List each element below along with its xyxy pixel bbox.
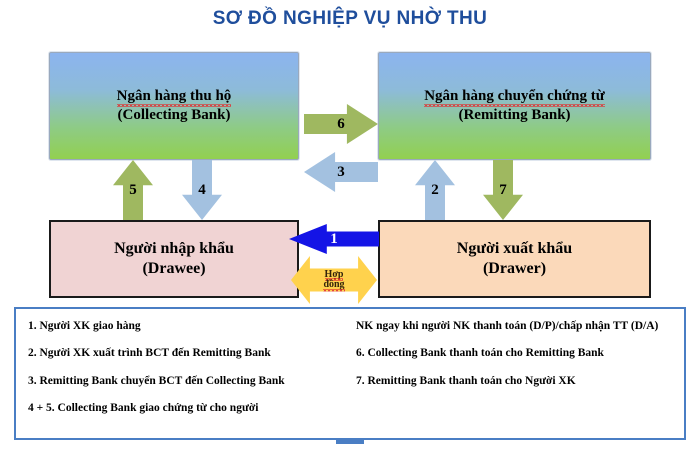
contract-label-line2: đồng: [323, 280, 344, 291]
legend-item: NK ngay khi người NK thanh toán (D/P)/ch…: [356, 319, 674, 333]
arrow-4-label: 4: [198, 182, 206, 199]
arrow-up-5-icon: 5: [113, 160, 153, 220]
legend-item: 2. Người XK xuất trình BCT đến Remitting…: [28, 346, 340, 360]
arrow-left-1-icon: 1: [289, 224, 379, 254]
box-collecting-bank-line2: (Collecting Bank): [118, 106, 231, 125]
arrow-1-label: 1: [330, 231, 338, 248]
box-drawer-line2: (Drawer): [483, 259, 546, 279]
arrow-5-label: 5: [129, 182, 137, 199]
page-title: SƠ ĐỒ NGHIỆP VỤ NHỜ THU: [0, 8, 700, 30]
legend-column-left: 1. Người XK giao hàng 2. Người XK xuất t…: [16, 309, 350, 438]
box-drawer-line1: Người xuất khẩu: [457, 239, 572, 259]
arrow-3-label: 3: [337, 164, 345, 181]
arrow-up-2-icon: 2: [415, 160, 455, 220]
box-drawee-line2: (Drawee): [142, 259, 205, 279]
arrow-right-6-icon: 6: [304, 104, 378, 144]
legend-box: 1. Người XK giao hàng 2. Người XK xuất t…: [14, 307, 686, 440]
legend-item: 6. Collecting Bank thanh toán cho Remitt…: [356, 346, 674, 360]
box-collecting-bank-line1: Ngân hàng thu hộ: [117, 87, 232, 106]
arrow-bidirectional-contract-icon: Hợp đồng: [291, 256, 377, 304]
arrow-down-7-icon: 7: [483, 160, 523, 220]
legend-item: 3. Remitting Bank chuyển BCT đến Collect…: [28, 374, 340, 388]
box-collecting-bank: Ngân hàng thu hộ (Collecting Bank): [49, 52, 299, 160]
arrow-2-label: 2: [431, 182, 439, 199]
legend-item: 4 + 5. Collecting Bank giao chứng từ cho…: [28, 401, 340, 415]
box-remitting-bank: Ngân hàng chuyển chứng từ (Remitting Ban…: [378, 52, 651, 160]
arrow-down-4-icon: 4: [182, 160, 222, 220]
box-remitting-bank-line1: Ngân hàng chuyển chứng từ: [424, 87, 605, 106]
legend-item: 7. Remitting Bank thanh toán cho Người X…: [356, 374, 674, 388]
arrow-left-3-icon: 3: [304, 152, 378, 192]
legend-column-right: NK ngay khi người NK thanh toán (D/P)/ch…: [350, 309, 684, 438]
arrow-6-label: 6: [337, 116, 345, 133]
arrow-7-label: 7: [499, 182, 507, 199]
legend-item: 1. Người XK giao hàng: [28, 319, 340, 333]
box-drawee: Người nhập khẩu (Drawee): [49, 220, 299, 298]
box-drawee-line1: Người nhập khẩu: [114, 239, 234, 259]
box-remitting-bank-line2: (Remitting Bank): [458, 106, 570, 125]
box-drawer: Người xuất khẩu (Drawer): [378, 220, 651, 298]
